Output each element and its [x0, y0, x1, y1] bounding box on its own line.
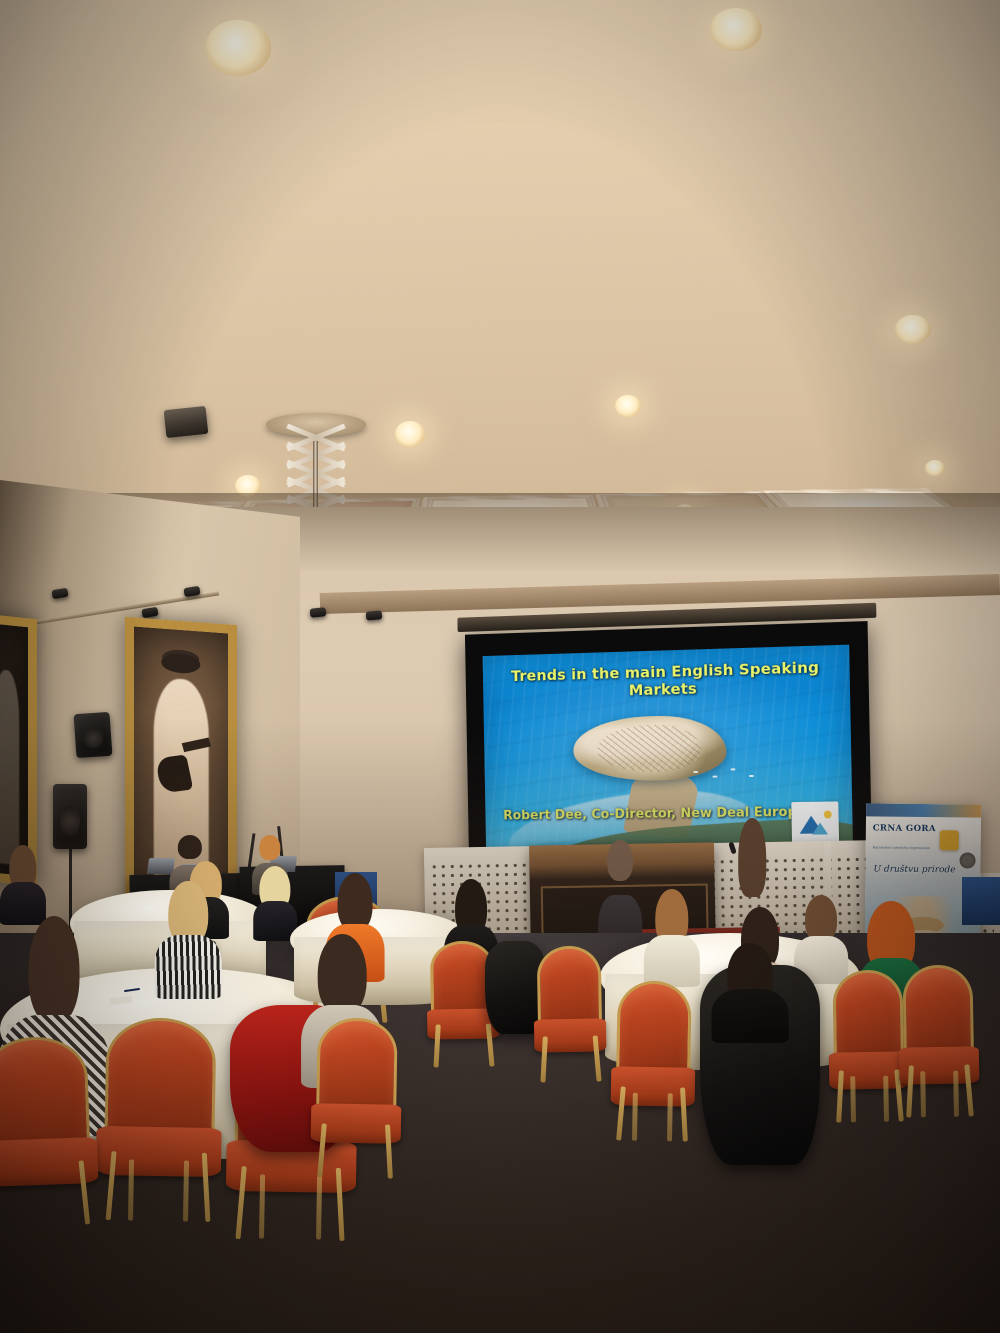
banquet-chair — [95, 1017, 224, 1222]
stage-blue-backdrop — [962, 877, 1000, 925]
banquet-chair — [897, 964, 980, 1117]
track-spotlight — [366, 610, 383, 620]
ceiling-downlight — [205, 20, 271, 76]
ceiling-downlight — [710, 8, 762, 51]
banquet-chair — [0, 1035, 100, 1228]
attendee — [5, 848, 41, 923]
track-spotlight — [183, 585, 200, 596]
banquet-chair — [610, 980, 697, 1141]
ceiling-downlight — [395, 421, 425, 446]
attendee — [800, 898, 842, 981]
banquet-chair — [533, 946, 607, 1083]
ceiling-downlight — [925, 460, 945, 476]
attendee — [650, 893, 694, 984]
attendee-seated-front-right — [720, 946, 780, 1039]
ceiling-downlight — [895, 315, 931, 344]
attendee — [258, 869, 292, 938]
banquet-chair — [310, 1018, 403, 1179]
track-spotlight — [310, 607, 327, 618]
attendee-striped-top — [162, 885, 214, 994]
conference-hall-photo: Trends in the main English Speaking Mark… — [0, 0, 1000, 1333]
ceiling-downlight — [615, 395, 641, 418]
ceiling-speaker — [164, 406, 209, 438]
